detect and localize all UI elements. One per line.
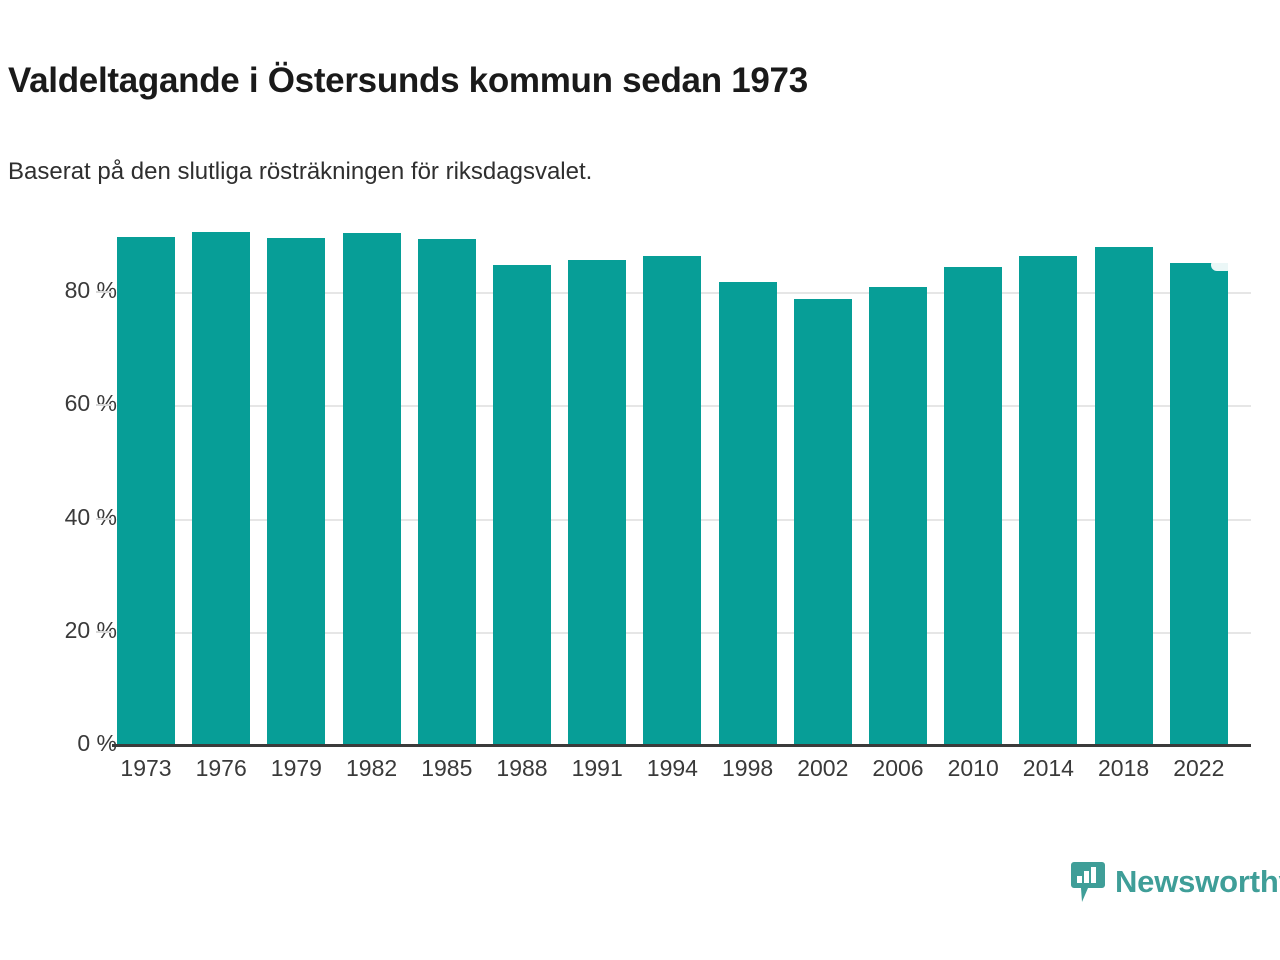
bar[interactable] <box>568 260 626 745</box>
y-tick-mark <box>96 291 112 293</box>
page-title: Valdeltagande i Östersunds kommun sedan … <box>8 62 1208 101</box>
y-tick-label: 0 % <box>0 730 117 757</box>
y-tick-mark <box>96 631 112 633</box>
bar[interactable] <box>1170 263 1228 745</box>
chart-card: Valdeltagande i Östersunds kommun sedan … <box>0 0 1280 960</box>
y-tick-mark <box>96 404 112 406</box>
x-axis-line <box>112 744 1251 747</box>
value-label-bubble <box>1211 259 1233 271</box>
bar[interactable] <box>117 237 175 745</box>
bar[interactable] <box>418 239 476 745</box>
plot-area <box>117 203 1251 745</box>
bar[interactable] <box>493 265 551 745</box>
y-tick-mark <box>96 518 112 520</box>
bar[interactable] <box>1019 256 1077 745</box>
bar-chart-speech-bubble-icon <box>1071 862 1105 902</box>
bar[interactable] <box>643 256 701 745</box>
bar[interactable] <box>719 282 777 745</box>
brand-name: Newsworthy <box>1115 864 1280 900</box>
bar[interactable] <box>1095 247 1153 745</box>
bar[interactable] <box>869 287 927 745</box>
chart-subtitle: Baserat på den slutliga rösträkningen fö… <box>8 158 1208 187</box>
brand-logo[interactable]: Newsworthy <box>1071 862 1280 902</box>
bar[interactable] <box>267 238 325 745</box>
bar[interactable] <box>192 232 250 745</box>
x-tick-label: 2022 <box>1154 755 1244 782</box>
bar[interactable] <box>944 267 1002 745</box>
bar[interactable] <box>343 233 401 745</box>
bar[interactable] <box>794 299 852 745</box>
